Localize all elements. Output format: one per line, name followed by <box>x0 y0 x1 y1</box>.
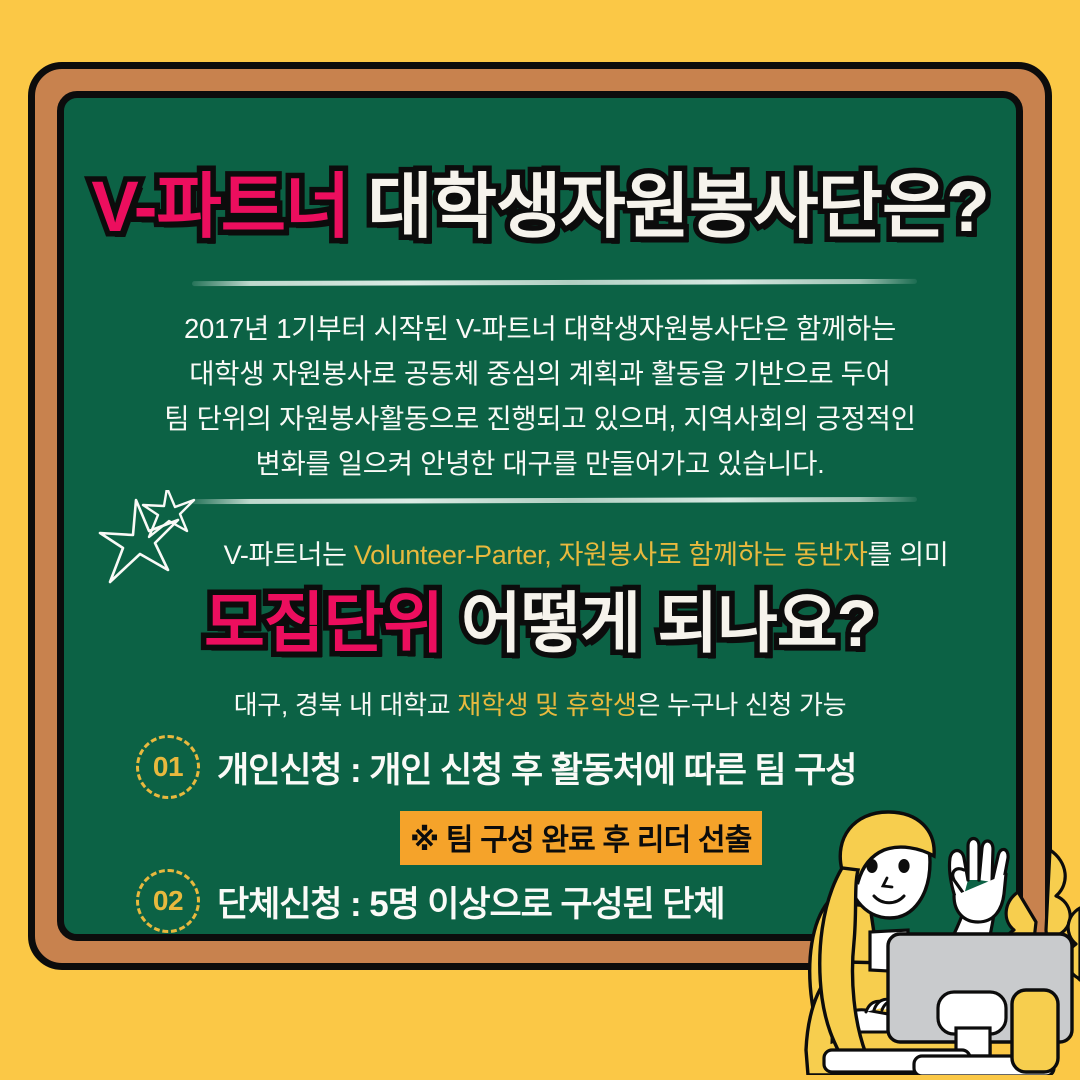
intro-line: 2017년 1기부터 시작된 V-파트너 대학생자원봉사단은 함께하는 <box>64 306 1016 351</box>
poster-canvas: V-파트너대학생자원봉사단은? 2017년 1기부터 시작된 V-파트너 대학생… <box>0 0 1080 1080</box>
intro-line: 변화를 일으켜 안녕한 대구를 만들어가고 있습니다. <box>64 441 1016 486</box>
section-heading-recruitment: 모집단위어떻게 되나요? <box>64 590 1016 656</box>
board-content: V-파트너대학생자원봉사단은? 2017년 1기부터 시작된 V-파트너 대학생… <box>64 98 1016 934</box>
definition-suffix: 를 의미 <box>868 540 949 570</box>
list-item: 02 단체신청 : 5명 이상으로 구성된 단체 <box>136 869 724 933</box>
intro-paragraph: 2017년 1기부터 시작된 V-파트너 대학생자원봉사단은 함께하는 대학생 … <box>64 306 1016 486</box>
section-heading-pink: 모집단위 <box>204 586 443 660</box>
chalk-divider-bottom <box>192 497 917 504</box>
section-heading-cream: 어떻게 되나요? <box>461 586 876 660</box>
team-leader-note: ※ 팀 구성 완료 후 리더 선출 <box>400 811 762 865</box>
page-title: V-파트너대학생자원봉사단은? <box>64 172 1016 243</box>
item-label: 단체신청 : 5명 이상으로 구성된 단체 <box>217 876 724 927</box>
page-title-rest: 대학생자원봉사단은? <box>367 168 988 247</box>
page-title-brand: V-파트너 <box>91 168 349 247</box>
brand-definition: V-파트너는 Volunteer-Parter, 자원봉사로 함께하는 동반자를… <box>64 533 1023 572</box>
definition-highlight: Volunteer-Parter, 자원봉사로 함께하는 동반자 <box>354 540 868 570</box>
eligibility-highlight: 재학생 및 휴학생 <box>457 690 636 720</box>
item-label: 개인신청 : 개인 신청 후 활동처에 따른 팀 구성 <box>217 742 856 793</box>
eligibility-prefix: 대구, 경북 내 대학교 <box>234 690 458 720</box>
list-item: 01 개인신청 : 개인 신청 후 활동처에 따른 팀 구성 <box>136 735 856 799</box>
intro-line: 팀 단위의 자원봉사활동으로 진행되고 있으며, 지역사회의 긍정적인 <box>64 396 1016 441</box>
item-number-badge: 01 <box>136 735 200 799</box>
eligibility-suffix: 은 누구나 신청 가능 <box>637 690 847 720</box>
woman-waving-at-computer-illustration <box>750 810 1080 1080</box>
eligibility-note: 대구, 경북 내 대학교 재학생 및 휴학생은 누구나 신청 가능 <box>64 685 1016 722</box>
chalk-divider-top <box>192 279 917 286</box>
item-number-badge: 02 <box>136 869 200 933</box>
definition-prefix: V-파트너는 <box>224 540 354 570</box>
intro-line: 대학생 자원봉사로 공동체 중심의 계획과 활동을 기반으로 두어 <box>64 351 1016 396</box>
